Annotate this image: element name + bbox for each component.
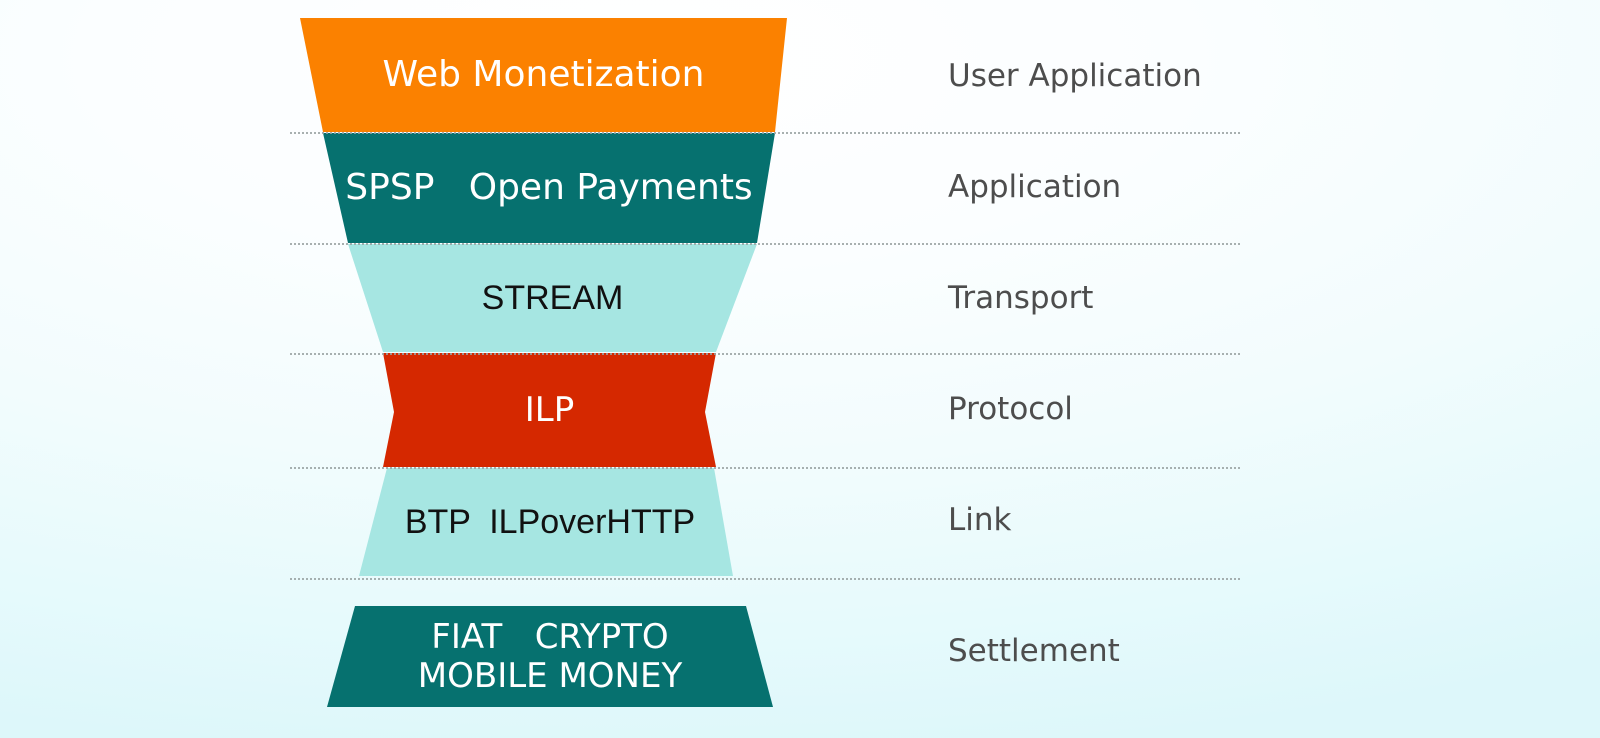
stack-label-text-transport: Transport xyxy=(948,280,1093,316)
band-shape-spsp-open-payments xyxy=(323,133,775,243)
funnel-shape-group xyxy=(0,0,1600,738)
stack-label-text-application: Application xyxy=(948,169,1121,205)
band-shape-btp-ilpoverhttp xyxy=(359,468,733,576)
diagram-canvas: Web Monetization SPSP Open Payments STRE… xyxy=(0,0,1600,738)
stack-label-text-protocol: Protocol xyxy=(948,391,1073,427)
divider-line-5 xyxy=(290,578,1240,580)
stack-label-settlement: Settlement xyxy=(948,633,1120,669)
stack-label-text-settlement: Settlement xyxy=(948,633,1120,669)
divider-line-4 xyxy=(290,467,1240,469)
band-shape-ilp xyxy=(383,353,716,467)
stack-label-application: Application xyxy=(948,169,1121,205)
divider-line-2 xyxy=(290,243,1240,245)
divider-line-3 xyxy=(290,353,1240,355)
stack-label-text-link: Link xyxy=(948,502,1011,538)
band-shape-settlement xyxy=(327,606,773,707)
stack-label-protocol: Protocol xyxy=(948,391,1073,427)
stack-label-link: Link xyxy=(948,502,1011,538)
divider-line-1 xyxy=(290,132,1240,134)
band-shape-stream xyxy=(348,244,757,352)
stack-label-text-user-application: User Application xyxy=(948,58,1202,94)
stack-label-user-application: User Application xyxy=(948,58,1202,94)
band-shape-web-monetization xyxy=(300,18,787,132)
stack-label-transport: Transport xyxy=(948,280,1093,316)
